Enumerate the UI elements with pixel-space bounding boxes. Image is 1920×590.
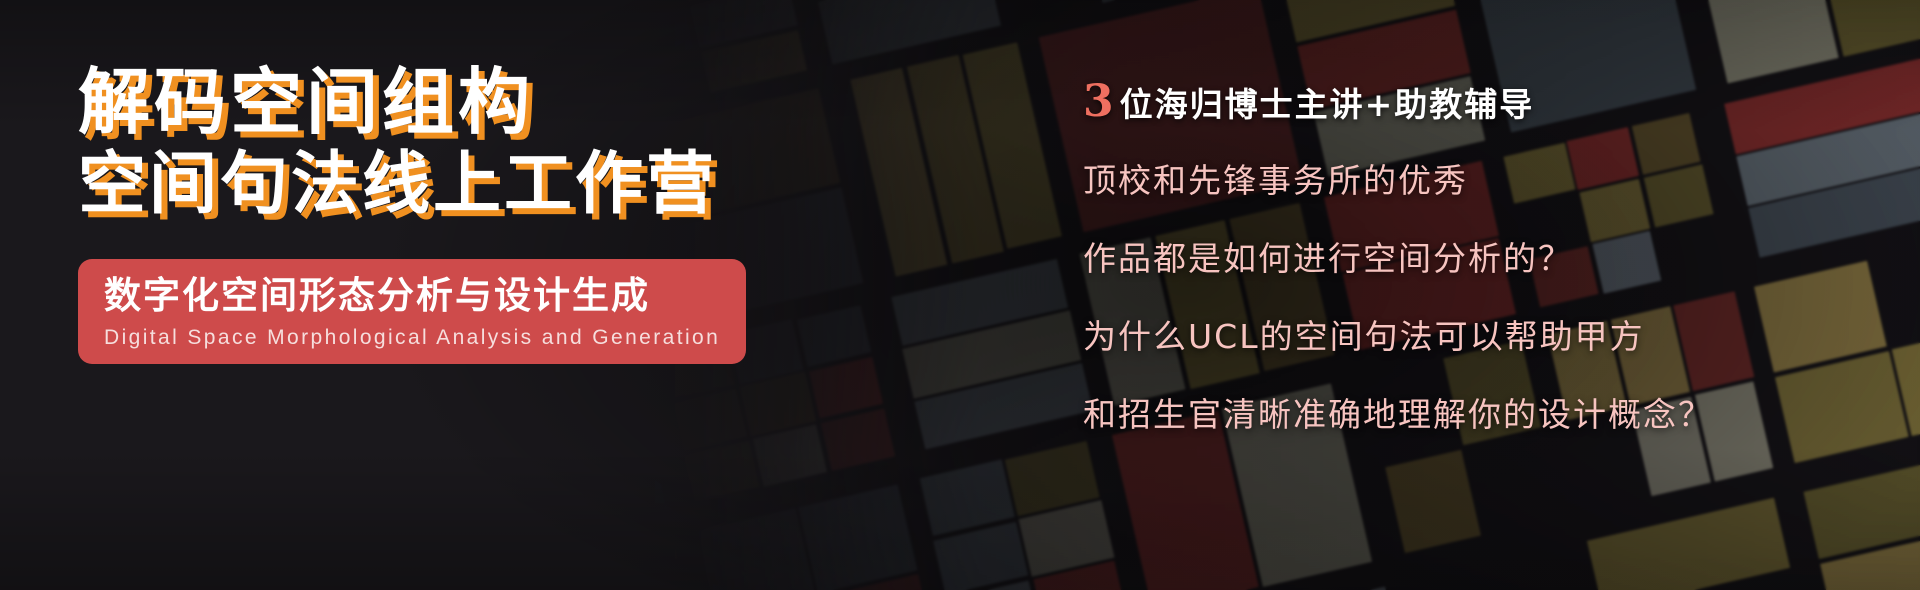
description-line-4: 和招生官清晰准确地理解你的设计概念？ xyxy=(1083,398,1713,431)
description-line-2: 作品都是如何进行空间分析的？ xyxy=(1083,242,1713,275)
badge-chinese-text: 数字化空间形态分析与设计生成 xyxy=(104,275,720,318)
description-line-1: 顶校和先锋事务所的优秀 xyxy=(1083,164,1713,197)
title-column: 解码空间组构 空间句法线上工作营 数字化空间形态分析与设计生成 Digital … xyxy=(78,60,778,364)
title-line-2: 空间句法线上工作营 xyxy=(78,145,778,225)
subtitle-badge: 数字化空间形态分析与设计生成 Digital Space Morphologic… xyxy=(78,259,746,364)
instructor-headline-text: 位海归博士主讲+助教辅导 xyxy=(1120,85,1535,124)
description-line-3: 为什么UCL的空间句法可以帮助甲方 xyxy=(1083,320,1713,353)
title-line-1: 解码空间组构 xyxy=(78,60,778,145)
instructor-count: 3 xyxy=(1083,76,1120,127)
course-promo-banner: 解码空间组构 空间句法线上工作营 数字化空间形态分析与设计生成 Digital … xyxy=(0,0,1920,590)
description-column: 3位海归博士主讲+助教辅导 顶校和先锋事务所的优秀 作品都是如何进行空间分析的？… xyxy=(1083,78,1713,431)
instructor-headline: 3位海归博士主讲+助教辅导 xyxy=(1083,78,1713,126)
badge-english-text: Digital Space Morphological Analysis and… xyxy=(104,326,720,350)
